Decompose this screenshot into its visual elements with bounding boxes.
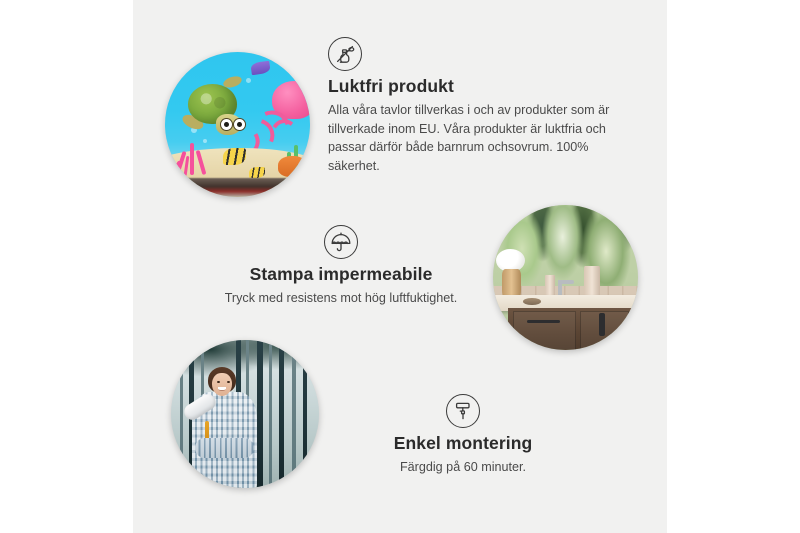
soap-bottle xyxy=(584,266,600,298)
umbrella-icon xyxy=(324,225,358,259)
tree-trunk xyxy=(257,340,263,488)
eye xyxy=(217,381,220,383)
tree-trunk xyxy=(269,340,272,488)
feature-text-easy-mounting: Enkel montering Färgdig på 60 minuter. xyxy=(303,394,623,477)
feature-body: Färgdig på 60 minuter. xyxy=(303,458,623,477)
wood-vanity-cabinet xyxy=(508,308,639,350)
feature-title: Enkel montering xyxy=(303,433,623,454)
octopus-eye xyxy=(306,92,310,97)
soap-dish xyxy=(523,298,540,305)
woman-paint-roller-forest-wallpaper-thumbnail xyxy=(171,340,319,488)
turtle-eye xyxy=(220,118,233,131)
feature-text-waterproof: Stampa impermeabile Tryck med resistens … xyxy=(181,225,501,308)
underwater-scene xyxy=(165,52,310,197)
content-panel: Luktfri produkt Alla våra tavlor tillver… xyxy=(133,0,667,533)
feature-title: Stampa impermeabile xyxy=(181,264,501,285)
door-handle xyxy=(599,313,605,336)
scene-bottom-strip xyxy=(177,178,299,197)
feature-image-easy-mounting xyxy=(171,340,319,488)
feature-body: Tryck med resistens mot hög luftfuktighe… xyxy=(181,289,501,308)
folded-arms xyxy=(195,438,254,459)
orange-starfish xyxy=(278,156,307,176)
pink-coral xyxy=(174,139,212,177)
bathroom-tropical-wallpaper-thumbnail xyxy=(493,205,638,350)
feature-image-odourless xyxy=(165,52,310,197)
vanity-drawer xyxy=(513,311,576,350)
tree-trunk xyxy=(180,340,184,488)
eye xyxy=(227,381,230,383)
underwater-cartoon-wallpaper-thumbnail xyxy=(165,52,310,197)
forest-portrait-scene xyxy=(171,340,319,488)
tree-trunk xyxy=(292,340,295,488)
feature-body: Alla våra tavlor tillverkas i och av pro… xyxy=(328,101,626,176)
paint-roller-icon xyxy=(446,394,480,428)
tree-trunk xyxy=(279,340,284,488)
bathroom-scene xyxy=(493,205,638,350)
drawer-handle xyxy=(527,320,560,323)
feature-image-waterproof xyxy=(493,205,638,350)
turtle-eye xyxy=(233,118,246,131)
feature-title: Luktfri produkt xyxy=(328,76,626,97)
feature-text-odourless: Luktfri produkt Alla våra tavlor tillver… xyxy=(328,37,626,176)
faucet-spout xyxy=(558,280,574,283)
product-feature-infographic: Luktfri produkt Alla våra tavlor tillver… xyxy=(0,0,800,533)
spray-bottle-crossed-out-icon xyxy=(328,37,362,71)
